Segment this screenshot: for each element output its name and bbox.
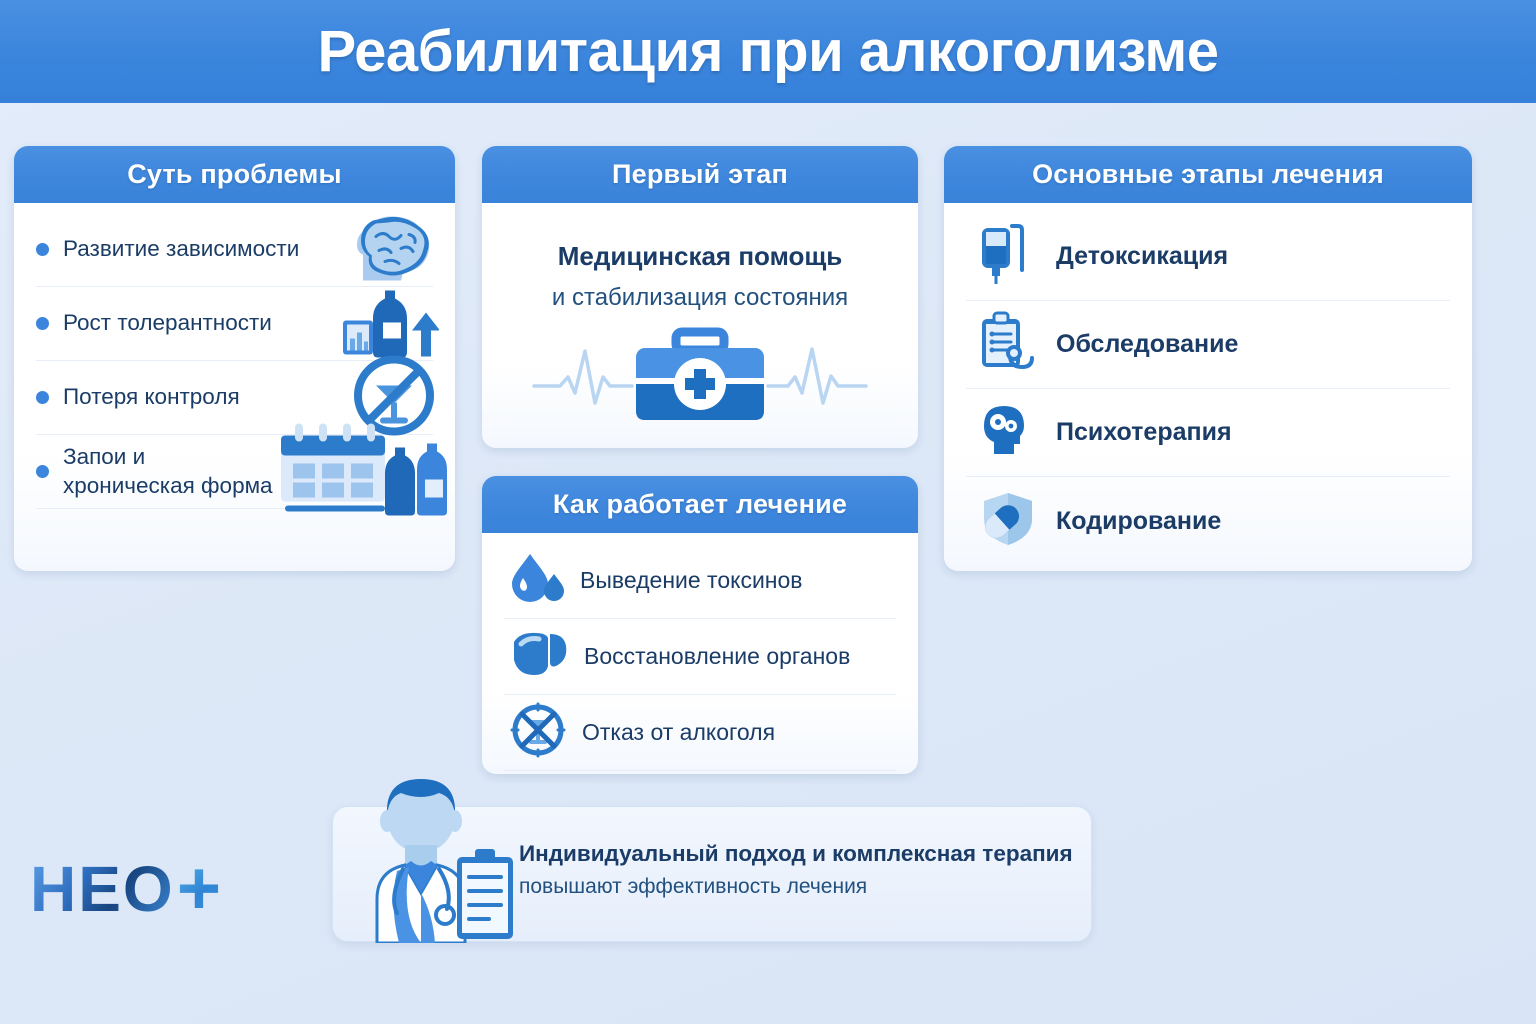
logo-text: НЕО	[30, 852, 175, 926]
list-item-label: Отказ от алкоголя	[582, 719, 775, 746]
water-drop-icon	[510, 552, 564, 609]
logo-row: НЕО +	[30, 852, 221, 926]
list-item-label: Потеря контроля	[63, 383, 240, 412]
bullet-icon	[36, 465, 49, 478]
list-item-label: Выведение токсинов	[580, 567, 803, 594]
list-item-label: Кодирование	[1056, 507, 1221, 536]
list-item-label: Развитие зависимости	[63, 235, 299, 264]
list-item-label: Запои и хроническая форма	[63, 443, 273, 501]
banner-text: Индивидуальный подход и комплексная тера…	[519, 841, 1073, 899]
card-first-stage-title: Первый этап	[612, 159, 788, 190]
list-item-label: Восстановление органов	[584, 643, 850, 670]
list-item: Выведение токсинов	[504, 543, 896, 619]
pill-shield-icon	[978, 489, 1036, 554]
list-item: Психотерапия	[966, 389, 1450, 477]
card-first-stage-body: Медицинская помощь и стабилизация состоя…	[482, 203, 918, 448]
list-item-label: Рост толерантности	[63, 309, 272, 338]
first-stage-line-1: Медицинская помощь	[504, 241, 896, 272]
card-first-stage: Первый этап Медицинская помощь и стабили…	[482, 146, 918, 448]
card-problem-body: Развитие зависимости	[14, 203, 455, 523]
head-gears-icon	[978, 400, 1036, 465]
card-problem: Суть проблемы Развитие зависимости	[14, 146, 455, 571]
list-item: Развитие зависимости	[36, 213, 433, 287]
list-item: Восстановление органов	[504, 619, 896, 695]
list-item-label: Обследование	[1056, 330, 1238, 359]
bullet-icon	[36, 391, 49, 404]
card-how-it-works-body: Выведение токсинов Восстановление органо…	[482, 533, 918, 774]
first-aid-kit-icon	[530, 320, 870, 435]
brain-icon	[343, 214, 439, 285]
bullet-icon	[36, 243, 49, 256]
card-how-it-works-header: Как работает лечение	[482, 476, 918, 533]
list-item: Детоксикация	[966, 213, 1450, 301]
list-item: Запои и хроническая форма	[36, 435, 433, 509]
first-aid-kit-wrap	[504, 320, 896, 435]
card-treatment-stages-body: Детоксикация	[944, 203, 1472, 571]
card-treatment-stages-header: Основные этапы лечения	[944, 146, 1472, 203]
banner-line-2: повышают эффективность лечения	[519, 875, 1073, 899]
card-problem-header: Суть проблемы	[14, 146, 455, 203]
infographic-page: Реабилитация при алкоголизме Суть пробле…	[0, 0, 1536, 1024]
summary-banner: Индивидуальный подход и комплексная тера…	[332, 806, 1092, 942]
list-item-label: Психотерапия	[1056, 418, 1232, 447]
page-header: Реабилитация при алкоголизме	[0, 0, 1536, 103]
list-item: Обследование	[966, 301, 1450, 389]
iv-drip-icon	[978, 222, 1036, 291]
card-first-stage-header: Первый этап	[482, 146, 918, 203]
list-item: Отказ от алкоголя	[504, 695, 896, 771]
first-stage-line-2: и стабилизация состояния	[504, 284, 896, 312]
calendar-bottles-icon	[275, 421, 455, 522]
clipboard-stethoscope-icon	[978, 311, 1036, 378]
bullet-icon	[36, 317, 49, 330]
card-how-it-works: Как работает лечение Выведение токсинов	[482, 476, 918, 774]
banner-line-1: Индивидуальный подход и комплексная тера…	[519, 841, 1073, 867]
brand-logo: НЕО +	[30, 852, 221, 926]
list-item-label: Детоксикация	[1056, 242, 1228, 271]
liver-icon	[510, 630, 568, 683]
list-item: Кодирование	[966, 477, 1450, 565]
card-how-it-works-title: Как работает лечение	[553, 489, 847, 520]
card-treatment-stages-title: Основные этапы лечения	[1032, 159, 1384, 190]
card-problem-title: Суть проблемы	[127, 159, 342, 190]
no-alcohol-circle-icon	[510, 702, 566, 763]
doctor-clipboard-icon	[349, 775, 519, 948]
logo-plus-icon: +	[177, 859, 221, 920]
card-treatment-stages: Основные этапы лечения Детоксикация	[944, 146, 1472, 571]
page-title: Реабилитация при алкоголизме	[317, 18, 1218, 85]
